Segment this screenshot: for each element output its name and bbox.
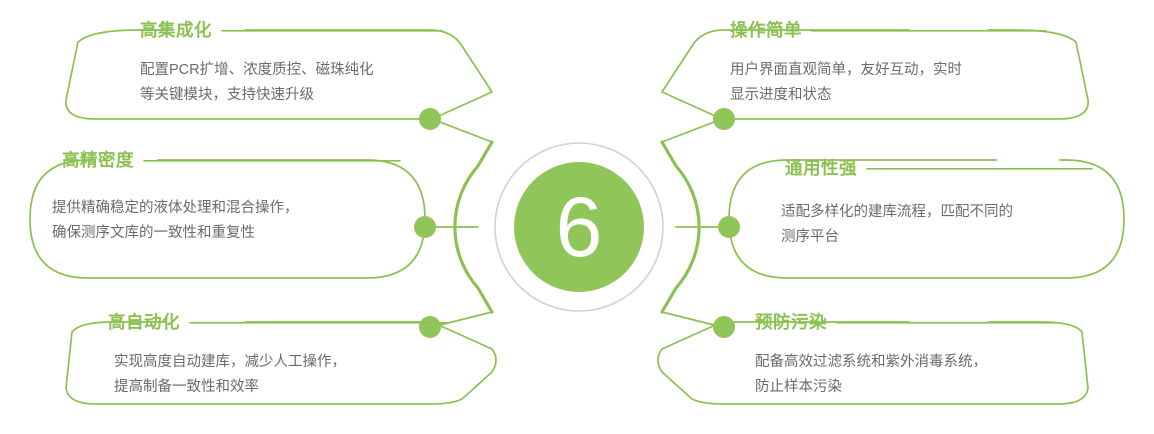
card-body-line: 配置PCR扩增、浓度质控、磁珠纯化 [140,58,374,83]
hub-number: 6 [512,160,646,294]
connector-node-simple-operation[interactable] [713,108,735,130]
card-title-high-integration: 高集成化 [140,22,212,40]
connector-node-high-versatility[interactable] [718,216,740,238]
card-body-high-automation: 实现高度自动建库，减少人工操作， 提高制备一致性和效率 [114,350,346,400]
card-body-line: 显示进度和状态 [730,83,962,108]
card-body-line: 提供精确稳定的液体处理和混合操作， [52,196,299,221]
spoke-right-top [662,119,722,142]
card-body-contamination-prevention: 配备高效过滤系统和紫外消毒系统， 防止样本污染 [755,350,987,400]
infographic-canvas: 6 高集成化 配置PCR扩增、浓度质控、磁珠纯化 等关键模块，支持快速升级 高精… [0,0,1154,434]
card-body-high-integration: 配置PCR扩增、浓度质控、磁珠纯化 等关键模块，支持快速升级 [140,58,374,108]
connector-node-high-precision[interactable] [414,216,436,238]
card-body-line: 实现高度自动建库，减少人工操作， [114,350,346,375]
card-body-line: 提高制备一致性和效率 [114,375,346,400]
connector-node-high-automation[interactable] [419,316,441,338]
card-title-high-precision: 高精密度 [62,152,134,170]
spoke-left-bottom [432,312,492,327]
connector-node-high-integration[interactable] [419,108,441,130]
card-title-simple-operation: 操作简单 [730,22,802,40]
card-body-simple-operation: 用户界面直观简单，友好互动，实时 显示进度和状态 [730,58,962,108]
card-body-line: 配备高效过滤系统和紫外消毒系统， [755,350,987,375]
card-body-line: 测序平台 [781,225,1013,250]
card-body-line: 防止样本污染 [755,375,987,400]
card-body-high-precision: 提供精确稳定的液体处理和混合操作， 确保测序文库的一致性和重复性 [52,196,299,246]
card-body-line: 适配多样化的建库流程，匹配不同的 [781,200,1013,225]
connector-node-contamination-prevention[interactable] [713,316,735,338]
card-body-high-versatility: 适配多样化的建库流程，匹配不同的 测序平台 [781,200,1013,250]
card-title-contamination-prevention: 预防污染 [755,314,827,332]
card-body-line: 等关键模块，支持快速升级 [140,83,374,108]
spoke-right-bottom [662,312,722,327]
card-title-high-automation: 高自动化 [108,314,180,332]
card-body-line: 确保测序文库的一致性和重复性 [52,221,299,246]
card-title-high-versatility: 通用性强 [785,160,857,178]
card-body-line: 用户界面直观简单，友好互动，实时 [730,58,962,83]
spoke-left-top [432,119,492,142]
